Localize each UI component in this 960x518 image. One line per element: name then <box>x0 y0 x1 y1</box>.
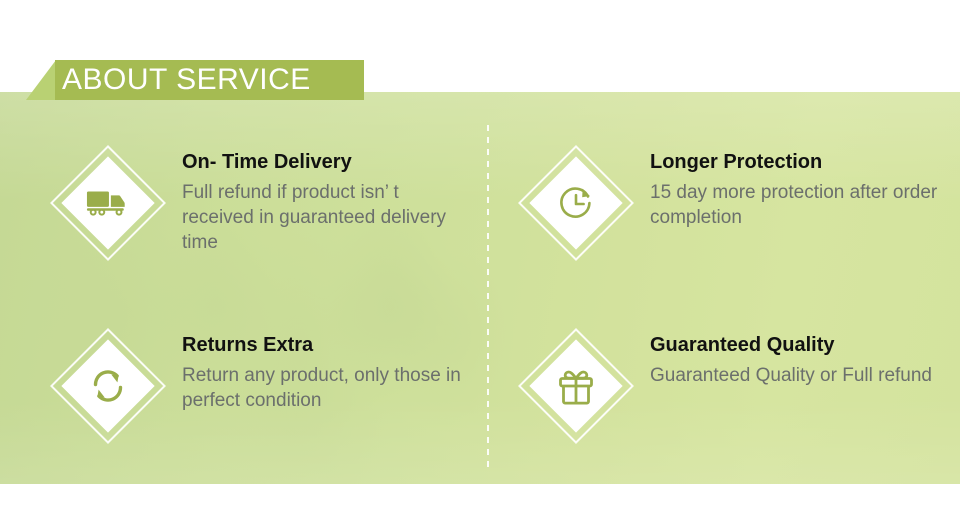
ribbon-fold <box>26 60 56 100</box>
feature-description: 15 day more protection after order compl… <box>650 180 940 230</box>
feature-icon-frame <box>52 330 164 442</box>
feature-title: Longer Protection <box>650 149 940 175</box>
clock-refresh-icon <box>554 181 598 225</box>
feature-description: Return any product, only those in perfec… <box>182 363 472 413</box>
feature-title: Guaranteed Quality <box>650 332 932 358</box>
page-title: ABOUT SERVICE <box>62 58 311 102</box>
feature-icon-frame <box>52 147 164 259</box>
feature-icon-frame <box>520 147 632 259</box>
gift-box-icon <box>554 364 598 408</box>
feature-description: Full refund if product isn’ t received i… <box>182 180 472 255</box>
feature-returns-extra: Returns Extra Return any product, only t… <box>52 328 472 442</box>
feature-title: Returns Extra <box>182 332 472 358</box>
feature-text: Returns Extra Return any product, only t… <box>164 328 472 413</box>
delivery-truck-icon <box>86 181 130 225</box>
feature-on-time-delivery: On- Time Delivery Full refund if product… <box>52 145 472 259</box>
feature-text: On- Time Delivery Full refund if product… <box>164 145 472 255</box>
feature-text: Guaranteed Quality Guaranteed Quality or… <box>632 328 932 388</box>
feature-guaranteed-quality: Guaranteed Quality Guaranteed Quality or… <box>520 328 940 442</box>
feature-icon-frame <box>520 330 632 442</box>
feature-text: Longer Protection 15 day more protection… <box>632 145 940 230</box>
about-service-banner: ABOUT SERVICE On- Ti <box>0 0 960 518</box>
vertical-dashed-divider <box>487 125 489 473</box>
exchange-arrows-icon <box>86 364 130 408</box>
feature-description: Guaranteed Quality or Full refund <box>650 363 932 388</box>
feature-title: On- Time Delivery <box>182 149 472 175</box>
feature-longer-protection: Longer Protection 15 day more protection… <box>520 145 940 259</box>
